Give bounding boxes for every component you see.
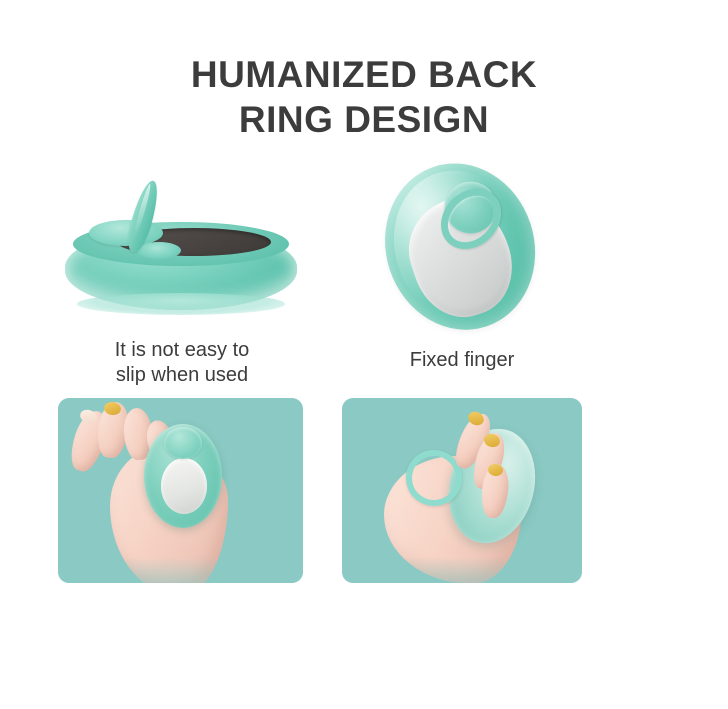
ring-mount-disc — [164, 427, 202, 459]
product-image-back-view — [349, 134, 575, 357]
photo-hand-finger-through-ring — [342, 398, 582, 583]
caption-non-slip-line-1: It is not easy to — [57, 338, 307, 363]
caption-non-slip: It is not easy to slip when used — [57, 338, 307, 388]
title-line-2: RING DESIGN — [0, 97, 728, 142]
device-inset-panel — [161, 458, 207, 514]
photo-hand-palm-grip — [58, 398, 303, 583]
title-line-1: HUMANIZED BACK — [0, 52, 728, 97]
panel-bottom-fade — [342, 557, 582, 583]
page-title: HUMANIZED BACK RING DESIGN — [0, 52, 728, 142]
caption-fixed-finger: Fixed finger — [372, 348, 552, 373]
device-in-hand — [144, 424, 222, 528]
product-image-angled-device — [57, 180, 307, 315]
panel-bottom-fade — [58, 557, 303, 583]
ring-foot — [137, 242, 181, 259]
caption-non-slip-line-2: slip when used — [57, 363, 307, 388]
